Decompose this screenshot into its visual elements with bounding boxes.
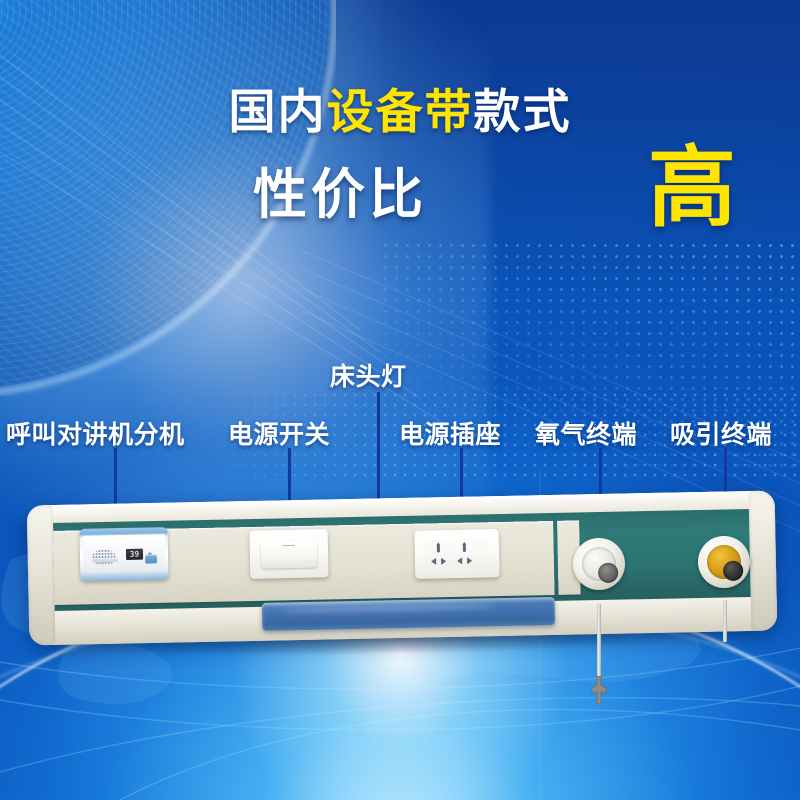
power-socket-device[interactable] bbox=[415, 529, 500, 579]
lamp-sheen bbox=[279, 602, 496, 614]
callout-label-bed-lamp: 床头灯 bbox=[330, 357, 407, 393]
headline-block: 国内设备带款式 性价比 高 bbox=[0, 0, 800, 260]
banner-canvas: 国内设备带款式 性价比 高 呼叫对讲机分机 电源开关 床头灯 电源插座 氧气终端… bbox=[0, 0, 800, 800]
panel-endcap-left bbox=[27, 505, 56, 645]
socket-faceplate bbox=[425, 538, 490, 569]
rocker-paddle[interactable] bbox=[261, 540, 318, 568]
intercom-faceplate: 39 bbox=[83, 534, 166, 573]
headline-line1-part2: 款式 bbox=[474, 85, 572, 138]
callout-label-power-socket: 电源插座 bbox=[399, 415, 501, 451]
headline-line1-part1: 国内 bbox=[229, 85, 327, 138]
intercom-call-button[interactable] bbox=[145, 554, 157, 563]
oxygen-terminal-inner bbox=[582, 547, 617, 582]
suction-terminal-inner bbox=[707, 545, 742, 580]
intercom-card-slot bbox=[92, 558, 118, 563]
headline-line-2: 性价比 bbox=[90, 168, 590, 222]
headline-line-1: 国内设备带款式 bbox=[0, 88, 800, 135]
suction-hose bbox=[723, 600, 727, 642]
panel-endcap-right bbox=[749, 491, 778, 631]
oxygen-hose bbox=[597, 604, 601, 686]
callout-label-suction-terminal: 吸引终端 bbox=[670, 415, 772, 451]
oxygen-terminal-port[interactable] bbox=[598, 563, 618, 583]
socket-pin-slots-icon bbox=[425, 538, 490, 569]
bed-lamp-diffuser[interactable] bbox=[262, 597, 556, 631]
callout-label-power-switch: 电源开关 bbox=[228, 415, 330, 451]
nurse-call-intercom-device[interactable]: 39 bbox=[79, 527, 168, 581]
callout-label-oxygen-terminal: 氧气终端 bbox=[535, 415, 637, 451]
headline-big-word: 高 bbox=[648, 144, 736, 232]
rocker-marking bbox=[283, 545, 295, 546]
headline-line1-highlight: 设备带 bbox=[327, 85, 474, 138]
intercom-lcd-display: 39 bbox=[126, 549, 143, 560]
power-switch-device[interactable] bbox=[250, 529, 329, 579]
hose-cross-fitting-icon bbox=[585, 676, 613, 704]
suction-terminal-port[interactable] bbox=[723, 561, 743, 581]
callout-label-nurse-call-intercom: 呼叫对讲机分机 bbox=[6, 415, 185, 451]
